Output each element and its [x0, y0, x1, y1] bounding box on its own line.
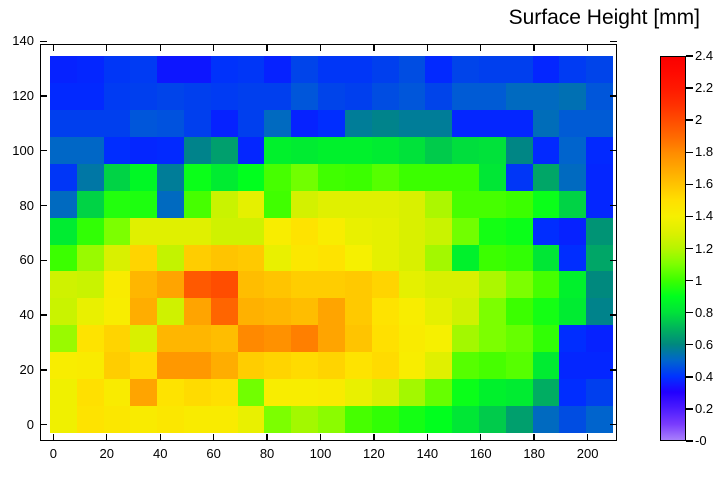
heatmap-canvas [50, 56, 613, 433]
x-axis-tick [587, 434, 588, 441]
heatmap-cell [425, 406, 452, 433]
heatmap-cell [184, 406, 211, 433]
y-axis-label: 20 [2, 362, 34, 377]
heatmap-cell [452, 218, 479, 245]
colorbar-label: 0.6 [695, 337, 713, 352]
heatmap-cell [50, 56, 77, 83]
heatmap-cell [130, 379, 157, 406]
heatmap-cell [184, 83, 211, 110]
heatmap-cell [533, 379, 560, 406]
x-axis-label: 200 [565, 446, 611, 461]
heatmap-cell [425, 83, 452, 110]
heatmap-cell [318, 137, 345, 164]
heatmap-cell [104, 137, 131, 164]
heatmap-cell [50, 218, 77, 245]
y-axis-tick [610, 205, 617, 206]
heatmap-cell [130, 164, 157, 191]
heatmap-cell [533, 271, 560, 298]
heatmap-cell [399, 191, 426, 218]
heatmap-cell [211, 325, 238, 352]
y-axis-tick [610, 424, 617, 425]
heatmap-cell [345, 110, 372, 137]
colorbar [660, 56, 686, 441]
heatmap-cell [291, 83, 318, 110]
heatmap-cell [130, 298, 157, 325]
heatmap-cell [506, 245, 533, 272]
heatmap-cell [157, 298, 184, 325]
heatmap-cell [372, 110, 399, 137]
heatmap-cell [506, 271, 533, 298]
heatmap-cell [399, 137, 426, 164]
heatmap-cell [318, 352, 345, 379]
heatmap-cell [479, 379, 506, 406]
heatmap-cell [211, 56, 238, 83]
y-axis-tick [610, 95, 617, 96]
y-axis-tick [40, 205, 47, 206]
heatmap-cell [372, 83, 399, 110]
heatmap-cell [157, 110, 184, 137]
colorbar-tick [686, 55, 693, 56]
y-axis-tick [40, 314, 47, 315]
colorbar-tick [686, 312, 693, 313]
heatmap-cell [291, 137, 318, 164]
heatmap-cell [425, 137, 452, 164]
colorbar-label: 0.8 [695, 305, 713, 320]
heatmap-cell [211, 379, 238, 406]
colorbar-label: 1 [695, 273, 702, 288]
heatmap-cell [345, 298, 372, 325]
heatmap-cell [586, 110, 613, 137]
x-axis-label: 60 [191, 446, 237, 461]
heatmap-cell [238, 137, 265, 164]
heatmap-cell [479, 218, 506, 245]
heatmap-cell [184, 137, 211, 164]
heatmap-cell [425, 110, 452, 137]
heatmap-cell [77, 83, 104, 110]
heatmap-cell [157, 83, 184, 110]
colorbar-label: 0.4 [695, 369, 713, 384]
x-axis-tick [427, 434, 428, 441]
colorbar-tick [686, 184, 693, 185]
heatmap-cell [318, 218, 345, 245]
heatmap-cell [586, 56, 613, 83]
heatmap-cell [506, 325, 533, 352]
heatmap-cell [104, 83, 131, 110]
heatmap-cell [50, 379, 77, 406]
heatmap-cell [157, 164, 184, 191]
heatmap-cell [318, 406, 345, 433]
heatmap-cell [533, 191, 560, 218]
x-axis-label: 0 [30, 446, 76, 461]
heatmap-cell [77, 191, 104, 218]
heatmap-cell [452, 110, 479, 137]
heatmap-cell [291, 271, 318, 298]
heatmap-cell [506, 218, 533, 245]
heatmap-cell [345, 56, 372, 83]
heatmap-cell [50, 110, 77, 137]
heatmap-cell [104, 245, 131, 272]
heatmap-cell [184, 110, 211, 137]
heatmap-cell [425, 245, 452, 272]
heatmap-cell [184, 298, 211, 325]
heatmap-cell [264, 271, 291, 298]
heatmap-cell [372, 56, 399, 83]
heatmap-cell [559, 245, 586, 272]
heatmap-cell [372, 218, 399, 245]
heatmap-cell [559, 164, 586, 191]
heatmap-cell [291, 164, 318, 191]
heatmap-cell [533, 83, 560, 110]
colorbar-label: 2.4 [695, 48, 713, 63]
y-axis-tick [40, 41, 47, 42]
heatmap-cell [345, 245, 372, 272]
heatmap-cell [157, 379, 184, 406]
heatmap-cell [291, 56, 318, 83]
heatmap-cell [586, 271, 613, 298]
heatmap-cell [372, 164, 399, 191]
heatmap-cell [345, 191, 372, 218]
heatmap-cell [399, 83, 426, 110]
heatmap-cell [318, 191, 345, 218]
heatmap-cell [130, 110, 157, 137]
heatmap-cell [77, 325, 104, 352]
heatmap-cell [425, 191, 452, 218]
x-axis-tick [53, 434, 54, 441]
y-axis-tick [610, 369, 617, 370]
heatmap-cell [50, 83, 77, 110]
heatmap-cell [130, 191, 157, 218]
heatmap-cell [559, 379, 586, 406]
heatmap-cell [264, 56, 291, 83]
heatmap-cell [452, 352, 479, 379]
x-axis-tick [213, 434, 214, 441]
heatmap-cell [211, 164, 238, 191]
heatmap-cell [264, 218, 291, 245]
heatmap-cell [184, 245, 211, 272]
heatmap-cell [372, 191, 399, 218]
heatmap-cell [586, 164, 613, 191]
colorbar-gradient [660, 56, 686, 441]
heatmap-cell [345, 137, 372, 164]
y-axis-tick [40, 424, 47, 425]
heatmap-cell [372, 325, 399, 352]
heatmap-cell [318, 83, 345, 110]
heatmap-cell [506, 110, 533, 137]
heatmap-cell [291, 298, 318, 325]
colorbar-label: 1.6 [695, 176, 713, 191]
heatmap-cell [264, 191, 291, 218]
heatmap-cell [157, 271, 184, 298]
heatmap-cell [452, 164, 479, 191]
heatmap-cell [399, 406, 426, 433]
heatmap-cell [586, 218, 613, 245]
x-axis-tick [160, 44, 161, 51]
heatmap-cell [506, 83, 533, 110]
heatmap-cell [425, 56, 452, 83]
heatmap-cell [211, 137, 238, 164]
colorbar-label: -0 [695, 433, 707, 448]
heatmap-cell [318, 245, 345, 272]
heatmap-cell [184, 325, 211, 352]
x-axis-tick [266, 44, 267, 51]
heatmap-cell [104, 352, 131, 379]
y-axis-label: 60 [2, 252, 34, 267]
heatmap-cell [586, 352, 613, 379]
heatmap-cell [372, 379, 399, 406]
heatmap-cell [77, 110, 104, 137]
heatmap-cell [77, 137, 104, 164]
colorbar-tick [686, 280, 693, 281]
heatmap-cell [157, 245, 184, 272]
heatmap-cell [479, 191, 506, 218]
heatmap-cell [184, 352, 211, 379]
heatmap-cell [184, 218, 211, 245]
heatmap-cell [77, 379, 104, 406]
heatmap-cell [533, 110, 560, 137]
heatmap-cell [77, 245, 104, 272]
heatmap-cell [399, 325, 426, 352]
y-axis-label: 120 [2, 88, 34, 103]
heatmap-cell [157, 406, 184, 433]
heatmap-cell [452, 379, 479, 406]
heatmap-cell [130, 352, 157, 379]
heatmap-cell [345, 325, 372, 352]
heatmap-cell [184, 56, 211, 83]
colorbar-label: 2 [695, 112, 702, 127]
heatmap-cell [559, 325, 586, 352]
colorbar-tick [686, 119, 693, 120]
heatmap-cell [157, 218, 184, 245]
x-axis-tick [106, 44, 107, 51]
heatmap-cell [318, 56, 345, 83]
heatmap-cell [345, 379, 372, 406]
heatmap-cell [318, 379, 345, 406]
x-axis-label: 160 [458, 446, 504, 461]
y-axis-label: 40 [2, 307, 34, 322]
heatmap-cell [184, 191, 211, 218]
heatmap-cell [77, 298, 104, 325]
heatmap-cell [399, 379, 426, 406]
heatmap-cell [264, 137, 291, 164]
heatmap-cell [345, 271, 372, 298]
heatmap-cell [533, 352, 560, 379]
heatmap-cell [533, 218, 560, 245]
heatmap-cell [452, 271, 479, 298]
x-axis-tick [587, 44, 588, 51]
heatmap-cell [425, 379, 452, 406]
heatmap-cell [157, 191, 184, 218]
x-axis-tick [320, 44, 321, 51]
heatmap-cell [506, 406, 533, 433]
y-axis-label: 100 [2, 143, 34, 158]
heatmap-cell [291, 352, 318, 379]
x-axis-tick [320, 434, 321, 441]
heatmap-cell [479, 352, 506, 379]
heatmap-cell [345, 83, 372, 110]
heatmap-cell [50, 298, 77, 325]
heatmap-cell [425, 164, 452, 191]
heatmap-cell [533, 245, 560, 272]
heatmap-cell [104, 298, 131, 325]
heatmap-cell [238, 245, 265, 272]
heatmap-cell [50, 325, 77, 352]
heatmap-cell [238, 191, 265, 218]
heatmap-cell [157, 352, 184, 379]
heatmap-cell [479, 406, 506, 433]
heatmap-cell [372, 271, 399, 298]
heatmap-cell [130, 245, 157, 272]
heatmap-cell [399, 110, 426, 137]
heatmap-cell [211, 271, 238, 298]
colorbar-tick [686, 376, 693, 377]
heatmap-cell [559, 137, 586, 164]
heatmap-cell [479, 325, 506, 352]
heatmap-cell [452, 56, 479, 83]
heatmap-cell [211, 245, 238, 272]
y-axis-tick [610, 150, 617, 151]
x-axis-label: 180 [511, 446, 557, 461]
heatmap-cell [104, 218, 131, 245]
heatmap-cell [104, 164, 131, 191]
heatmap-cell [345, 164, 372, 191]
heatmap-cell [345, 406, 372, 433]
heatmap-figure: Surface Height [mm] 02040608010012014016… [0, 0, 720, 480]
heatmap-cell [399, 245, 426, 272]
heatmap-cell [318, 110, 345, 137]
heatmap-cell [238, 379, 265, 406]
heatmap-cell [586, 406, 613, 433]
y-axis-label: 0 [2, 417, 34, 432]
heatmap-cell [506, 298, 533, 325]
heatmap-cell [130, 406, 157, 433]
heatmap-cell [211, 352, 238, 379]
heatmap-cell [506, 352, 533, 379]
heatmap-cell [130, 83, 157, 110]
heatmap-cell [264, 352, 291, 379]
heatmap-cell [238, 271, 265, 298]
heatmap-cell [586, 325, 613, 352]
heatmap-cell [50, 271, 77, 298]
heatmap-cell [452, 325, 479, 352]
heatmap-cell [318, 298, 345, 325]
heatmap-cell [559, 56, 586, 83]
x-axis-label: 40 [137, 446, 183, 461]
heatmap-cell [238, 352, 265, 379]
colorbar-tick [686, 408, 693, 409]
heatmap-cell [291, 110, 318, 137]
heatmap-cell [157, 137, 184, 164]
heatmap-cell [264, 164, 291, 191]
heatmap-cell [264, 379, 291, 406]
heatmap-cell [238, 325, 265, 352]
heatmap-cell [372, 298, 399, 325]
heatmap-cell [130, 137, 157, 164]
heatmap-cell [425, 298, 452, 325]
heatmap-cell [50, 245, 77, 272]
y-axis-label: 140 [2, 33, 34, 48]
heatmap-cell [130, 218, 157, 245]
heatmap-cell [506, 379, 533, 406]
y-axis-tick [610, 314, 617, 315]
heatmap-cell [291, 245, 318, 272]
x-axis-tick [53, 44, 54, 51]
x-axis-tick [266, 434, 267, 441]
x-axis-label: 80 [244, 446, 290, 461]
heatmap-cell [291, 325, 318, 352]
heatmap-cell [211, 298, 238, 325]
heatmap-cell [399, 298, 426, 325]
heatmap-cell [264, 245, 291, 272]
heatmap-grid [50, 56, 613, 433]
heatmap-cell [238, 218, 265, 245]
heatmap-cell [559, 110, 586, 137]
heatmap-cell [211, 83, 238, 110]
heatmap-cell [104, 406, 131, 433]
heatmap-cell [479, 245, 506, 272]
heatmap-cell [238, 298, 265, 325]
heatmap-cell [452, 406, 479, 433]
heatmap-cell [104, 191, 131, 218]
x-axis-label: 100 [297, 446, 343, 461]
heatmap-cell [50, 137, 77, 164]
heatmap-cell [130, 271, 157, 298]
heatmap-cell [77, 271, 104, 298]
heatmap-cell [345, 352, 372, 379]
heatmap-cell [479, 137, 506, 164]
colorbar-tick [686, 216, 693, 217]
heatmap-cell [50, 352, 77, 379]
heatmap-cell [291, 191, 318, 218]
y-axis-tick [40, 260, 47, 261]
x-axis-label: 20 [84, 446, 130, 461]
heatmap-cell [264, 83, 291, 110]
heatmap-cell [104, 56, 131, 83]
heatmap-cell [264, 406, 291, 433]
page-title: Surface Height [mm] [0, 6, 700, 30]
y-axis-tick [610, 41, 617, 42]
heatmap-cell [372, 352, 399, 379]
heatmap-cell [291, 379, 318, 406]
heatmap-cell [425, 352, 452, 379]
heatmap-cell [211, 218, 238, 245]
colorbar-tick [686, 440, 693, 441]
heatmap-cell [77, 164, 104, 191]
heatmap-cell [130, 325, 157, 352]
heatmap-cell [399, 56, 426, 83]
heatmap-cell [452, 137, 479, 164]
colorbar-tick [686, 344, 693, 345]
heatmap-cell [399, 164, 426, 191]
colorbar-label: 2.2 [695, 80, 713, 95]
y-axis-tick [40, 150, 47, 151]
heatmap-cell [104, 110, 131, 137]
heatmap-cell [238, 164, 265, 191]
x-axis-tick [213, 44, 214, 51]
heatmap-cell [318, 325, 345, 352]
heatmap-cell [506, 137, 533, 164]
heatmap-cell [479, 83, 506, 110]
heatmap-cell [479, 271, 506, 298]
heatmap-cell [264, 298, 291, 325]
heatmap-cell [586, 137, 613, 164]
heatmap-cell [559, 271, 586, 298]
colorbar-label: 1.2 [695, 241, 713, 256]
heatmap-cell [157, 56, 184, 83]
heatmap-cell [533, 325, 560, 352]
heatmap-cell [50, 191, 77, 218]
x-axis-tick [160, 434, 161, 441]
x-axis-tick [533, 44, 534, 51]
